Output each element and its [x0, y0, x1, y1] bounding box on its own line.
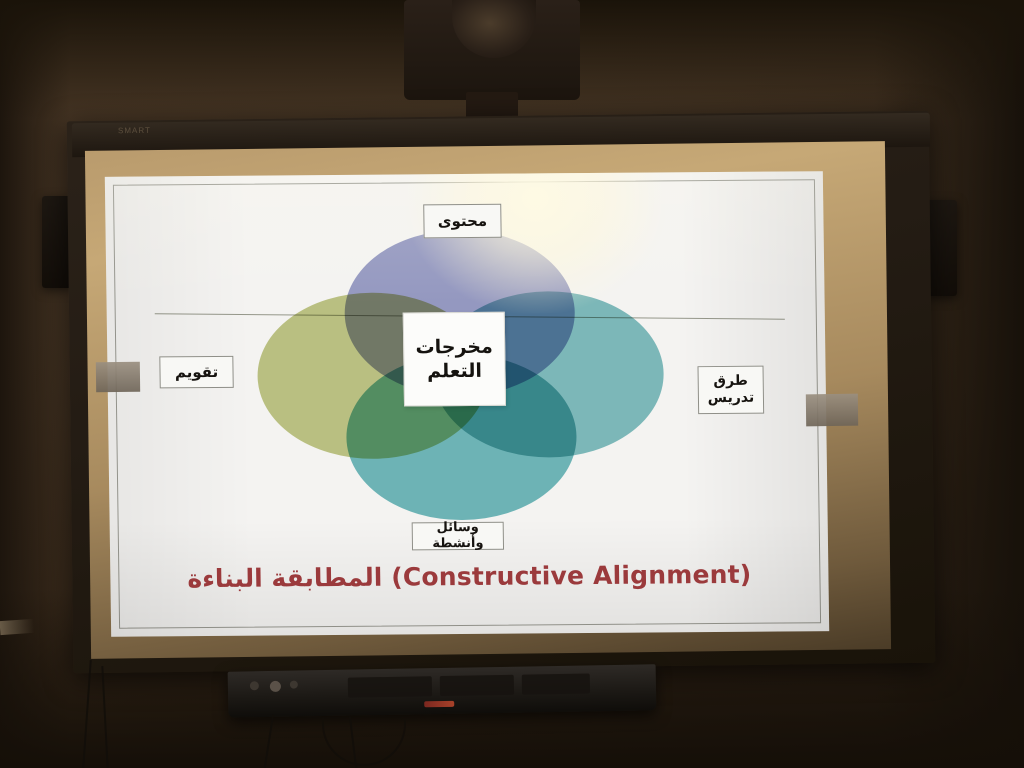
center-label-line2: التعلم	[427, 359, 482, 384]
pen-tray-slot-2[interactable]	[440, 675, 514, 696]
slide-title: (Constructive Alignment) المطابقة البناء…	[110, 559, 828, 594]
label-teaching-methods-line1: طرق	[713, 373, 748, 390]
label-assessment: تقويم	[159, 356, 233, 389]
pen-tray-status-led	[424, 701, 454, 708]
pen-tray-slot-3[interactable]	[522, 673, 590, 694]
pen-tray-slot-1[interactable]	[348, 676, 432, 697]
mount-bracket-left	[96, 362, 140, 393]
whiteboard-brand-logo: SMART	[118, 126, 154, 136]
slide-title-english: (Constructive Alignment)	[391, 560, 752, 592]
projected-slide[interactable]: مخرجات التعلم محتوى تقويم طرق تدريس وسائ…	[105, 171, 829, 637]
pen-tray-button-3[interactable]	[290, 681, 298, 689]
pen-tray-button-2[interactable]	[270, 681, 281, 692]
center-label-line1: مخرجات	[415, 334, 493, 359]
wall-light-streak	[0, 619, 34, 635]
venn-center-label: مخرجات التعلم	[403, 312, 506, 407]
mount-bracket-right	[806, 394, 858, 427]
label-teaching-methods-line2: تدريس	[708, 390, 755, 407]
pen-tray[interactable]	[228, 664, 657, 717]
label-content: محتوى	[423, 204, 501, 239]
label-teaching-methods: طرق تدريس	[697, 366, 764, 415]
slide-title-arabic: المطابقة البناءة	[187, 563, 382, 594]
pen-tray-button-1[interactable]	[250, 681, 259, 690]
classroom-scene: SMART مخرجات التعلم محتوى تقويم طرق تدري…	[0, 0, 1024, 768]
label-media-activities: وسائل وأنشطة	[412, 522, 504, 551]
